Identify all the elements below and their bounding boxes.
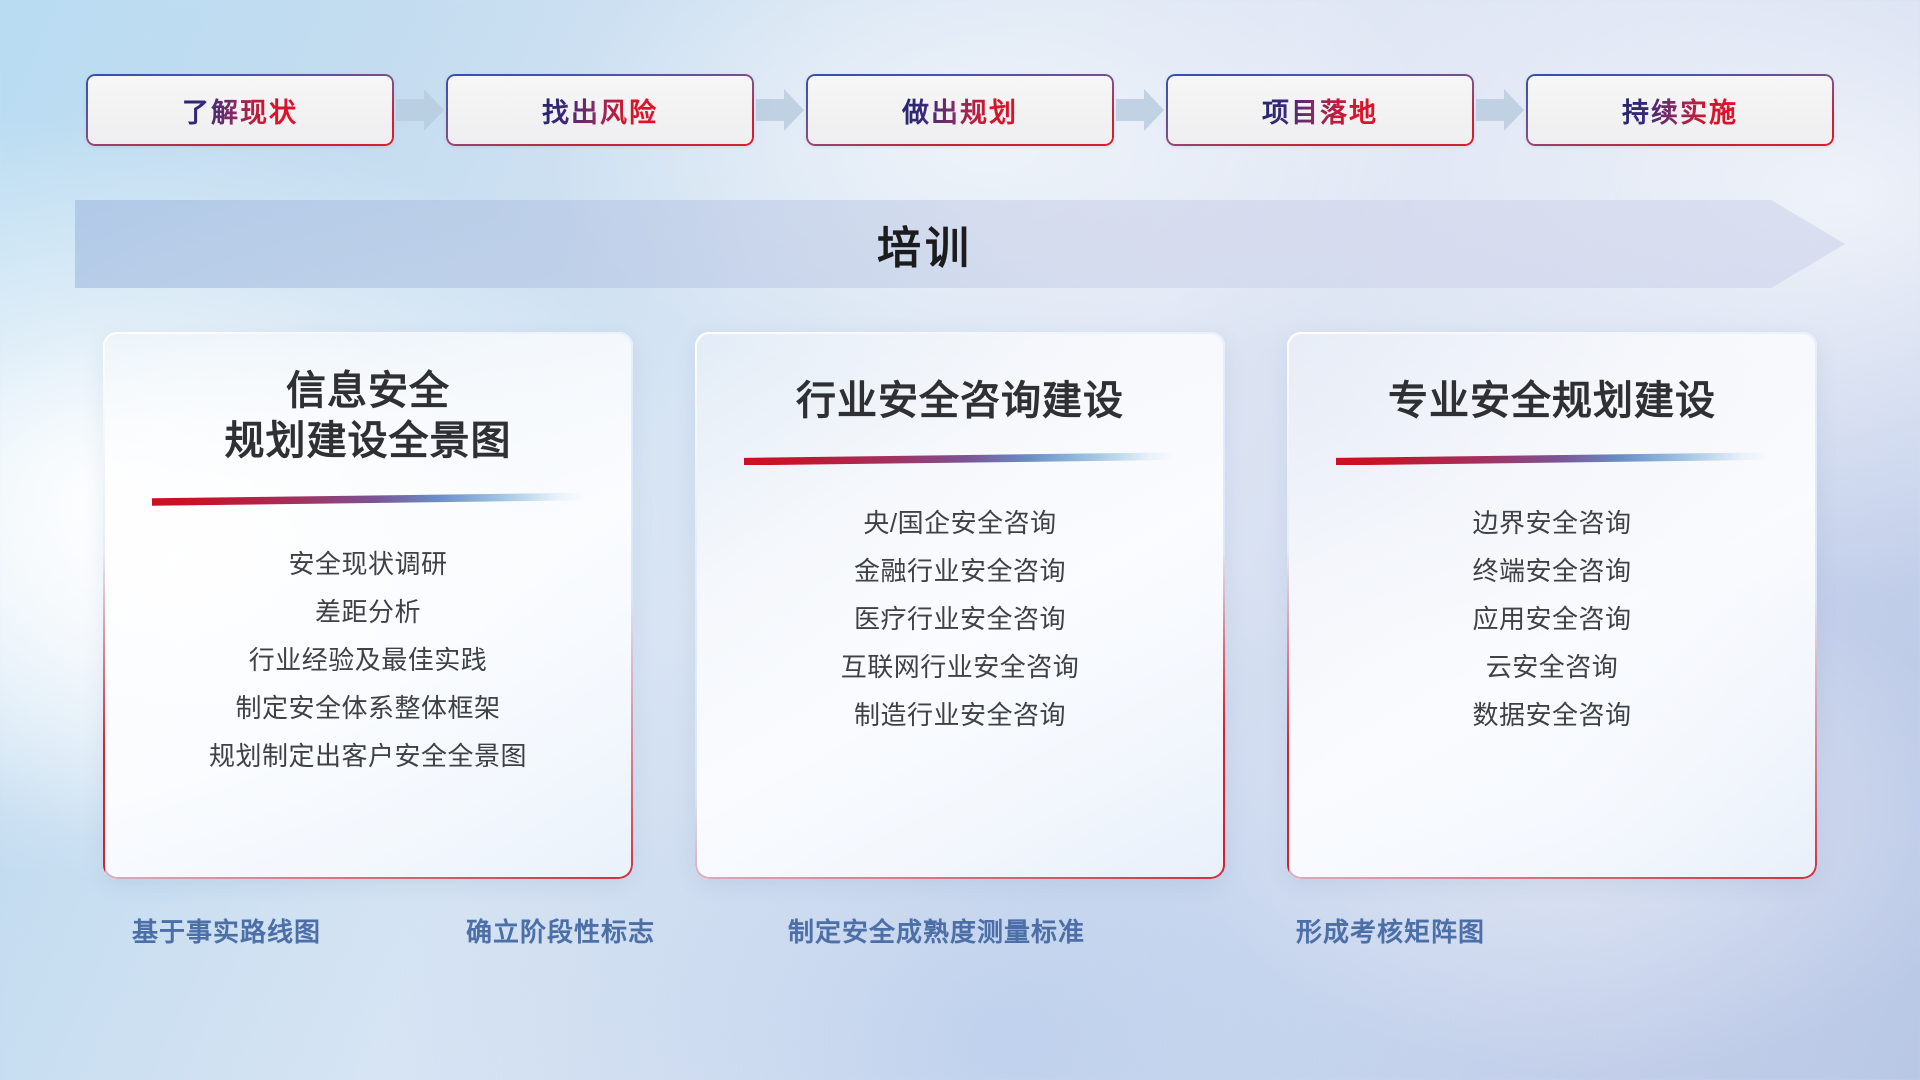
step-label-4: 项目落地	[1262, 91, 1378, 130]
step-label-3: 做出规划	[902, 91, 1018, 130]
step-arrow-icon-3	[1114, 87, 1166, 133]
footer-label-1: 基于事实路线图	[132, 912, 321, 949]
step-box-4[interactable]: 项目落地	[1166, 74, 1474, 146]
step-arrow-icon-1	[394, 87, 446, 133]
training-banner: 培训	[75, 200, 1845, 288]
list-item: 央/国企安全咨询	[863, 499, 1056, 547]
footer-label-3: 制定安全成熟度测量标准	[788, 912, 1085, 949]
list-item: 制定安全体系整体框架	[235, 684, 500, 732]
process-step-row: 了解现状 找出风险 做出规划 项目落地 持续实施	[0, 74, 1920, 146]
step-label-5: 持续实施	[1622, 91, 1738, 130]
card-1-title: 信息安全 规划建设全景图	[225, 366, 512, 467]
card-row: 信息安全 规划建设全景图 安全现状调研 差距分析 行业经验及最佳实践 制定安全体…	[0, 332, 1920, 882]
step-label-2: 找出风险	[542, 91, 658, 130]
card-2-title: 行业安全咨询建设	[796, 376, 1124, 426]
list-item: 安全现状调研	[288, 540, 447, 588]
card-3-title: 专业安全规划建设	[1388, 376, 1716, 426]
list-item: 行业经验及最佳实践	[249, 636, 488, 684]
banner-title: 培训	[75, 200, 1845, 288]
card-1-divider	[152, 493, 584, 506]
step-label-1: 了解现状	[182, 91, 298, 130]
list-item: 云安全咨询	[1486, 643, 1619, 691]
list-item: 数据安全咨询	[1472, 691, 1631, 739]
footer-label-row: 基于事实路线图 确立阶段性标志 制定安全成熟度测量标准 形成考核矩阵图	[0, 912, 1920, 964]
step-box-2[interactable]: 找出风险	[446, 74, 754, 146]
card-1-list: 安全现状调研 差距分析 行业经验及最佳实践 制定安全体系整体框架 规划制定出客户…	[103, 540, 633, 780]
list-item: 终端安全咨询	[1472, 547, 1631, 595]
list-item: 制造行业安全咨询	[854, 691, 1066, 739]
step-box-5[interactable]: 持续实施	[1526, 74, 1834, 146]
card-3[interactable]: 专业安全规划建设 边界安全咨询 终端安全咨询 应用安全咨询 云安全咨询 数据安全…	[1287, 332, 1817, 879]
footer-label-4: 形成考核矩阵图	[1296, 912, 1485, 949]
list-item: 互联网行业安全咨询	[841, 643, 1080, 691]
footer-label-2: 确立阶段性标志	[466, 912, 655, 949]
step-box-1[interactable]: 了解现状	[86, 74, 394, 146]
card-1[interactable]: 信息安全 规划建设全景图 安全现状调研 差距分析 行业经验及最佳实践 制定安全体…	[103, 332, 633, 879]
list-item: 医疗行业安全咨询	[854, 595, 1066, 643]
card-2-divider	[744, 452, 1176, 465]
card-3-list: 边界安全咨询 终端安全咨询 应用安全咨询 云安全咨询 数据安全咨询	[1287, 499, 1817, 739]
list-item: 金融行业安全咨询	[854, 547, 1066, 595]
step-arrow-icon-4	[1474, 87, 1526, 133]
step-box-3[interactable]: 做出规划	[806, 74, 1114, 146]
card-3-divider	[1336, 452, 1768, 465]
list-item: 差距分析	[315, 588, 421, 636]
list-item: 边界安全咨询	[1472, 499, 1631, 547]
list-item: 应用安全咨询	[1472, 595, 1631, 643]
list-item: 规划制定出客户安全全景图	[209, 732, 527, 780]
card-2-list: 央/国企安全咨询 金融行业安全咨询 医疗行业安全咨询 互联网行业安全咨询 制造行…	[695, 499, 1225, 739]
step-arrow-icon-2	[754, 87, 806, 133]
card-2[interactable]: 行业安全咨询建设 央/国企安全咨询 金融行业安全咨询 医疗行业安全咨询 互联网行…	[695, 332, 1225, 879]
